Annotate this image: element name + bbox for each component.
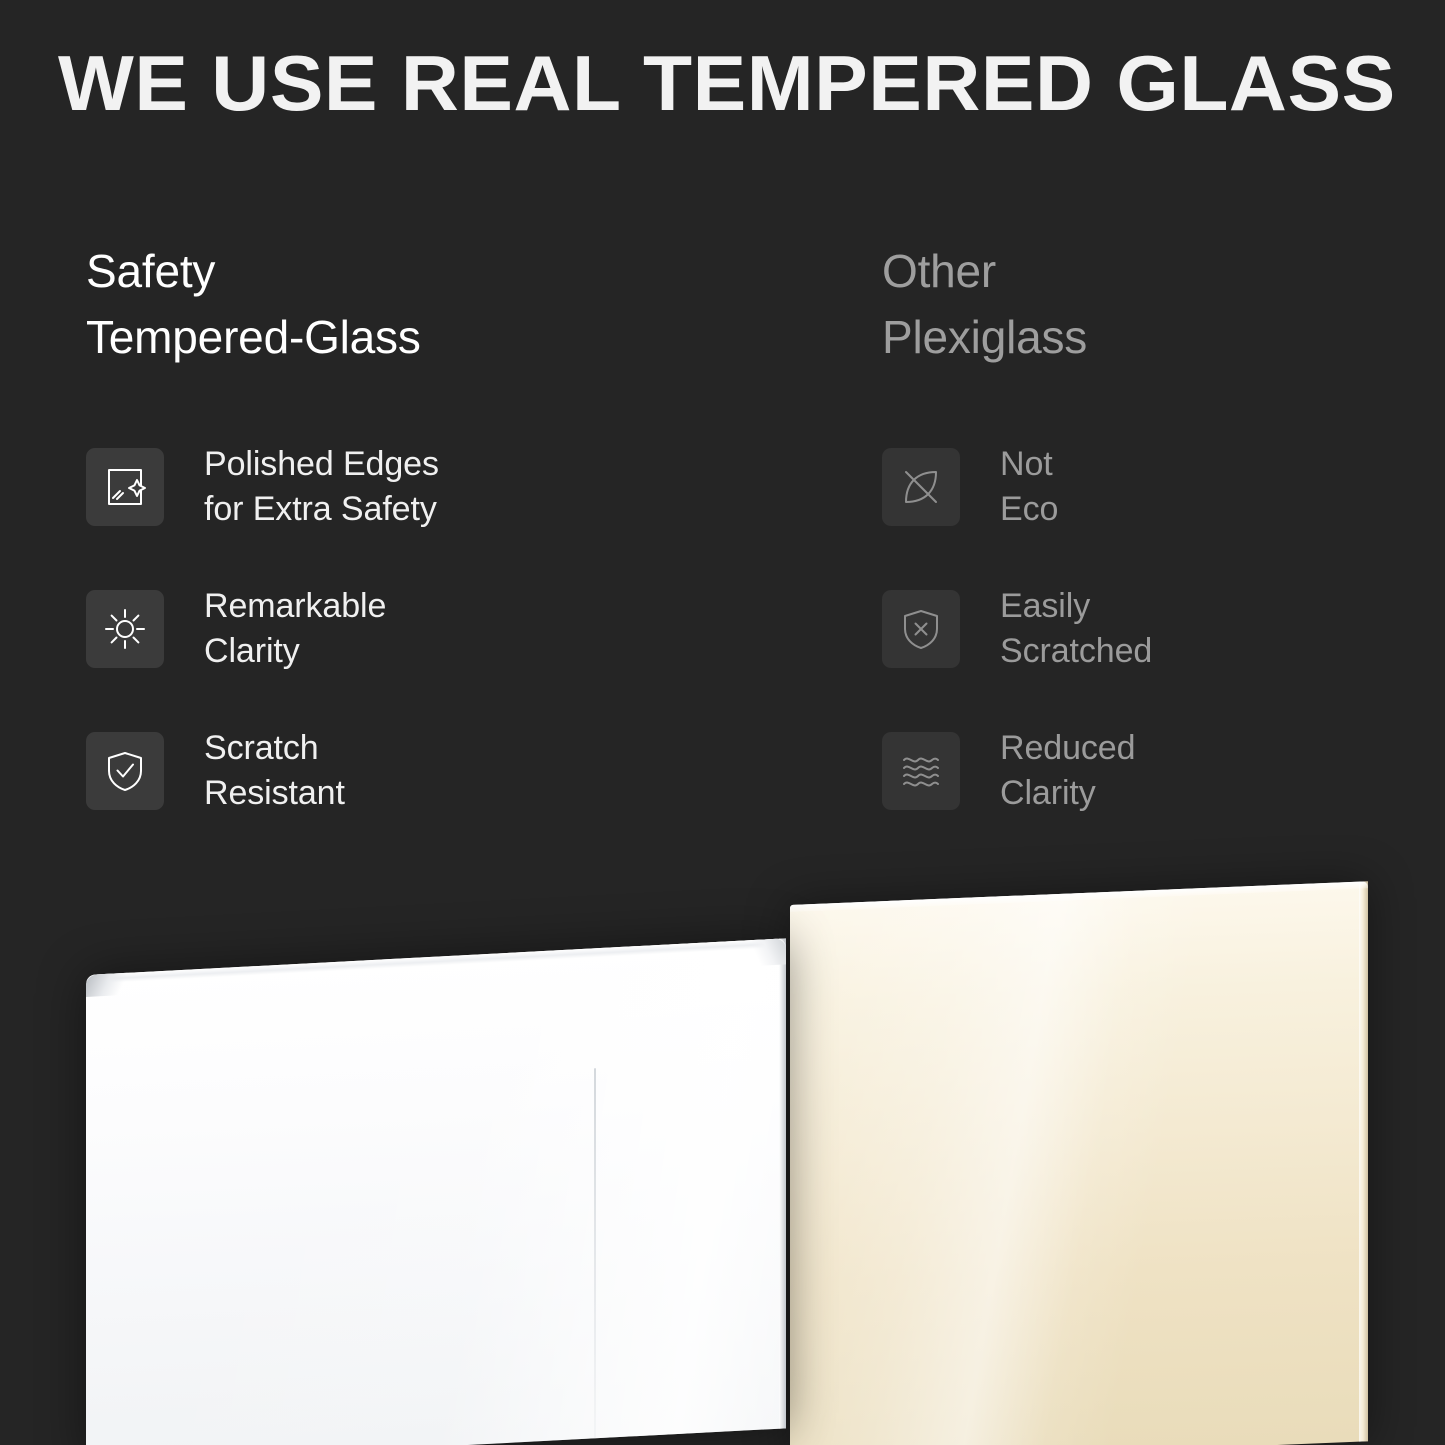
feature-row: Not Eco: [882, 448, 1402, 526]
tempered-glass-reflection-line: [594, 1068, 596, 1438]
feature-list-plexiglass: Not Eco Easily Scratched: [882, 448, 1402, 810]
column-tempered-glass: Safety Tempered-Glass Polished Edges for…: [86, 238, 806, 370]
sun-brightness-icon: [86, 590, 164, 668]
feature-label: Polished Edges for Extra Safety: [204, 442, 439, 532]
feature-list-tempered-glass: Polished Edges for Extra Safety: [86, 448, 806, 810]
product-photo: [0, 835, 1445, 1445]
column-title-plexiglass: Other Plexiglass: [882, 238, 1402, 370]
promo-graphic: WE USE REAL TEMPERED GLASS Safety Temper…: [0, 0, 1445, 1445]
shield-check-icon: [86, 732, 164, 810]
feature-label: Scratch Resistant: [204, 726, 345, 816]
feature-row: Remarkable Clarity: [86, 590, 806, 668]
plexiglass-right-edge: [1359, 881, 1368, 1441]
tempered-glass-panel: [86, 938, 786, 1445]
feature-label: Remarkable Clarity: [204, 584, 386, 674]
polished-pane-sparkle-icon: [86, 448, 164, 526]
tempered-glass-top-bevel: [86, 938, 786, 984]
wavy-distortion-icon: [882, 732, 960, 810]
tempered-glass-corner-left: [86, 973, 132, 997]
tempered-glass-sheen: [86, 938, 786, 1445]
feature-row: Reduced Clarity: [882, 732, 1402, 810]
plexiglass-panel: [790, 881, 1368, 1445]
plexiglass-top-bevel: [790, 881, 1368, 912]
tempered-glass-right-edge: [779, 938, 786, 1428]
tempered-glass-corner-right: [752, 938, 786, 966]
plexiglass-sheen: [790, 881, 1368, 1445]
leaf-crossed-out-icon: [882, 448, 960, 526]
page-title: WE USE REAL TEMPERED GLASS: [58, 40, 1438, 126]
column-plexiglass: Other Plexiglass Not Eco: [882, 238, 1402, 370]
feature-label: Easily Scratched: [1000, 584, 1152, 674]
column-title-tempered-glass: Safety Tempered-Glass: [86, 238, 806, 370]
feature-row: Polished Edges for Extra Safety: [86, 448, 806, 526]
shield-x-icon: [882, 590, 960, 668]
feature-row: Scratch Resistant: [86, 732, 806, 810]
feature-row: Easily Scratched: [882, 590, 1402, 668]
feature-label: Reduced Clarity: [1000, 726, 1135, 816]
feature-label: Not Eco: [1000, 442, 1058, 532]
